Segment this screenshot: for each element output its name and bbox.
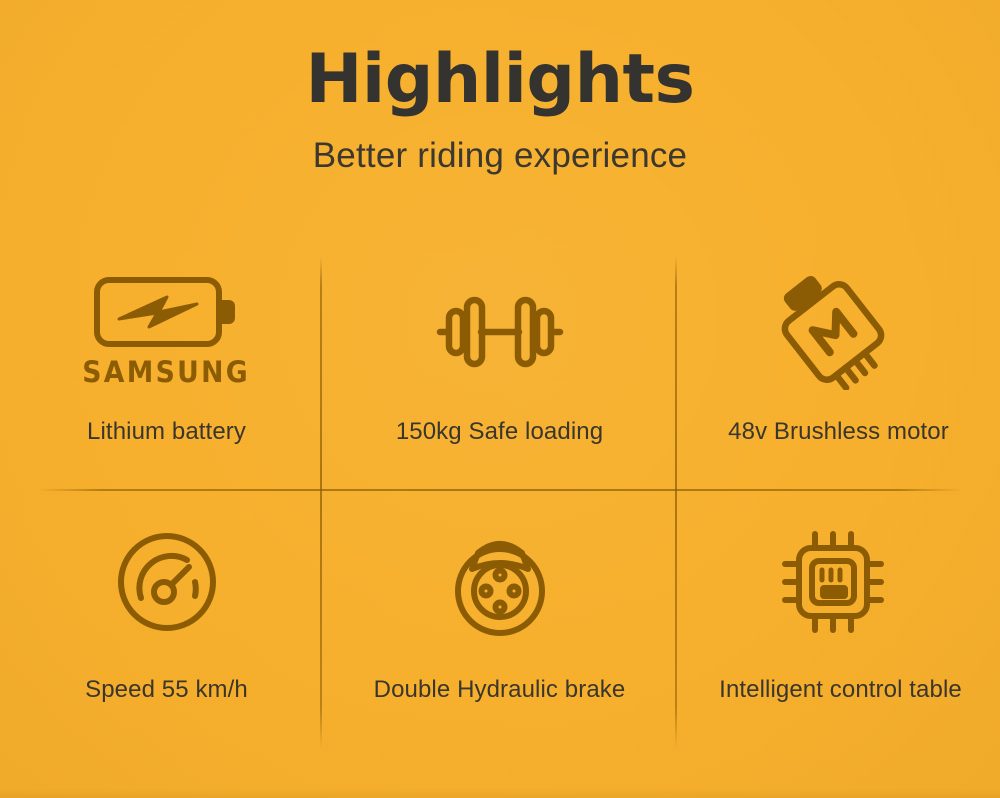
page-subtitle: Better riding experience	[0, 114, 1000, 176]
battery-icon	[93, 275, 239, 349]
feature-cell-speed: Speed 55 km/h	[0, 500, 333, 750]
feature-icon-slot	[666, 500, 999, 650]
feature-cell-control-table: Intelligent control table	[666, 500, 999, 750]
battery-brand-block: SAMSUNG	[75, 275, 257, 389]
brake-disc-icon	[448, 525, 552, 639]
feature-label: 150kg Safe loading	[396, 418, 603, 446]
dumbbell-icon	[434, 292, 566, 372]
feature-icon-slot	[0, 500, 333, 650]
speedometer-icon	[115, 530, 219, 634]
feature-label: 48v Brushless motor	[728, 418, 949, 446]
feature-cell-lithium-battery: SAMSUNG Lithium battery	[0, 250, 333, 500]
feature-label: Double Hydraulic brake	[374, 676, 626, 704]
microchip-icon	[779, 528, 887, 636]
battery-brand-label: SAMSUNG	[83, 355, 251, 389]
poster-header: Highlights Better riding experience	[0, 0, 1000, 176]
feature-icon-slot	[333, 250, 666, 400]
feature-cell-hydraulic-brake: Double Hydraulic brake	[333, 500, 666, 750]
highlights-poster: Highlights Better riding experience SAMS…	[0, 0, 1000, 798]
feature-cell-brushless-motor: 48v Brushless motor	[666, 250, 999, 500]
page-title: Highlights	[0, 0, 1000, 114]
feature-icon-slot	[666, 250, 999, 400]
feature-grid: SAMSUNG Lithium battery	[0, 250, 1000, 750]
feature-label: Intelligent control table	[719, 676, 962, 704]
feature-icon-slot	[333, 500, 666, 650]
feature-icon-slot: SAMSUNG	[0, 250, 333, 400]
feature-label: Lithium battery	[87, 418, 246, 446]
feature-cell-safe-loading: 150kg Safe loading	[333, 250, 666, 500]
bottom-edge-shade	[0, 788, 1000, 798]
feature-label: Speed 55 km/h	[85, 676, 248, 704]
motor-icon	[773, 274, 893, 390]
